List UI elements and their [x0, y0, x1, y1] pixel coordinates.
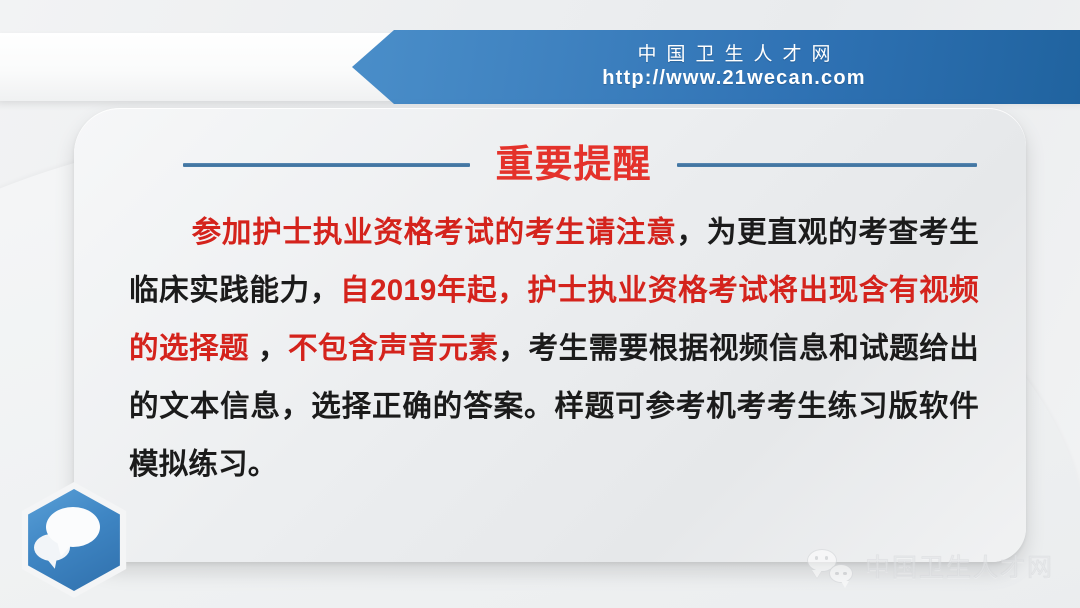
page-title: 重要提醒 [495, 146, 651, 184]
slide-canvas: 中国卫生人才网 http://www.21wecan.com 重要提醒 参加护士… [0, 0, 1080, 608]
notice-segment-1: 参加护士执业资格考试的考生请注意 [191, 216, 677, 249]
header-banner: 中国卫生人才网 http://www.21wecan.com [352, 30, 1080, 104]
banner-site-name: 中国卫生人才网 [627, 44, 840, 66]
banner-url: http://www.21wecan.com [602, 67, 865, 90]
heading-rule-left [183, 163, 470, 167]
watermark-label: 中国卫生人才网 [865, 548, 1054, 584]
notice-segment-5: 不包含声音元素 [288, 332, 498, 365]
wechat-eye-dot [835, 572, 839, 576]
speech-bubbles-icon [16, 482, 132, 598]
wechat-bubble-small [829, 564, 853, 583]
notice-body-text: 参加护士执业资格考试的考生请注意，为更直观的考查考生临床实践能力，自2019年起… [129, 204, 979, 494]
notice-segment-4: ， [258, 332, 288, 365]
notice-card: 重要提醒 参加护士执业资格考试的考生请注意，为更直观的考查考生临床实践能力，自2… [74, 108, 1026, 562]
wechat-eye-dot [843, 572, 847, 576]
card-heading-row: 重要提醒 [74, 146, 1026, 184]
wechat-icon [807, 549, 853, 583]
bubble-large-icon [46, 507, 100, 547]
heading-rule-right [677, 163, 977, 167]
watermark: 中国卫生人才网 [807, 548, 1054, 584]
